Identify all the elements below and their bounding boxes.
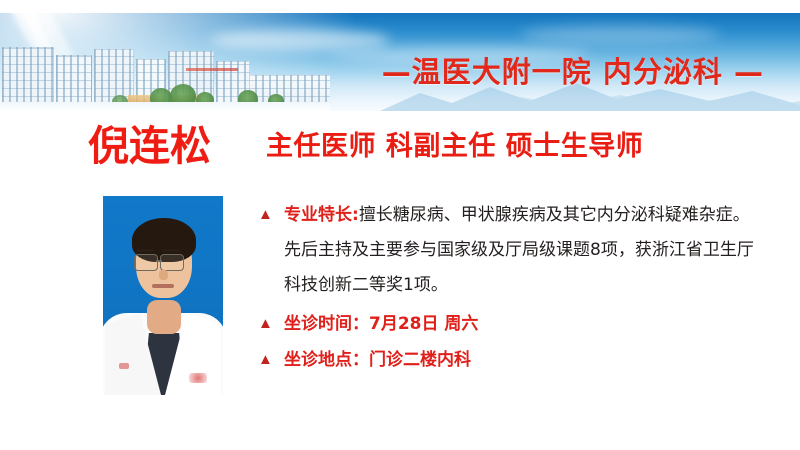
building-windows [2,47,54,105]
poster-root: —温医大附一院 内分泌科 — 倪连松 主任医师 科副主任 硕士生导师 ▲ 专业特… [0,0,800,450]
banner-title: —温医大附一院 内分泌科 — [382,49,764,91]
eyebrow-left [136,249,154,252]
coat-badge [189,373,207,383]
clinic-time-value: 7月28日 周六 [369,314,478,334]
doctor-titles: 主任医师 科副主任 硕士生导师 [266,129,643,165]
doctor-name: 倪连松 [88,122,211,170]
headline-row: 倪连松 主任医师 科副主任 硕士生导师 [0,122,800,174]
doctor-photo [103,196,223,395]
triangle-bullet-icon: ▲ [258,343,278,377]
eyeglasses-right-lens-icon [160,254,184,271]
eyebrow-right [162,249,180,252]
building-block [2,47,54,105]
nose [159,270,168,280]
triangle-bullet-icon: ▲ [258,198,278,232]
clinic-time-label: 坐诊时间： [284,314,369,334]
ground-strip [0,102,330,111]
eyeglasses-left-lens-icon [134,254,158,271]
clinic-time-line: 坐诊时间：7月28日 周六 [284,307,478,341]
triangle-bullet-icon: ▲ [258,307,278,341]
specialty-paragraph: 专业特长:擅长糖尿病、甲状腺疾病及其它内分泌科疑难杂症。先后主持及主要参与国家级… [284,198,754,303]
clinic-place-label: 坐诊地点： [284,350,369,370]
building-block [56,55,92,105]
neck [147,300,181,334]
hospital-banner: —温医大附一院 内分泌科 — [0,13,800,111]
clinic-time-row: ▲ 坐诊时间：7月28日 周六 [258,307,778,341]
detail-list: ▲ 专业特长:擅长糖尿病、甲状腺疾病及其它内分泌科疑难杂症。先后主持及主要参与国… [258,198,778,379]
specialty-label: 专业特长: [284,205,359,225]
top-white-margin [0,0,800,13]
eyeglasses-bridge-icon [156,260,162,262]
coat-badge-secondary [119,363,129,369]
building-banner-strip [186,68,238,71]
building-windows [56,55,92,105]
clinic-place-line: 坐诊地点：门诊二楼内科 [284,343,471,377]
clinic-place-value: 门诊二楼内科 [369,350,471,370]
building-wing [248,75,330,105]
building-windows [248,75,330,105]
clinic-place-row: ▲ 坐诊地点：门诊二楼内科 [258,343,778,377]
specialty-row: ▲ 专业特长:擅长糖尿病、甲状腺疾病及其它内分泌科疑难杂症。先后主持及主要参与国… [258,198,778,303]
hospital-building-image [0,39,330,111]
cloud-wisp [520,25,720,43]
mouth [152,284,174,288]
